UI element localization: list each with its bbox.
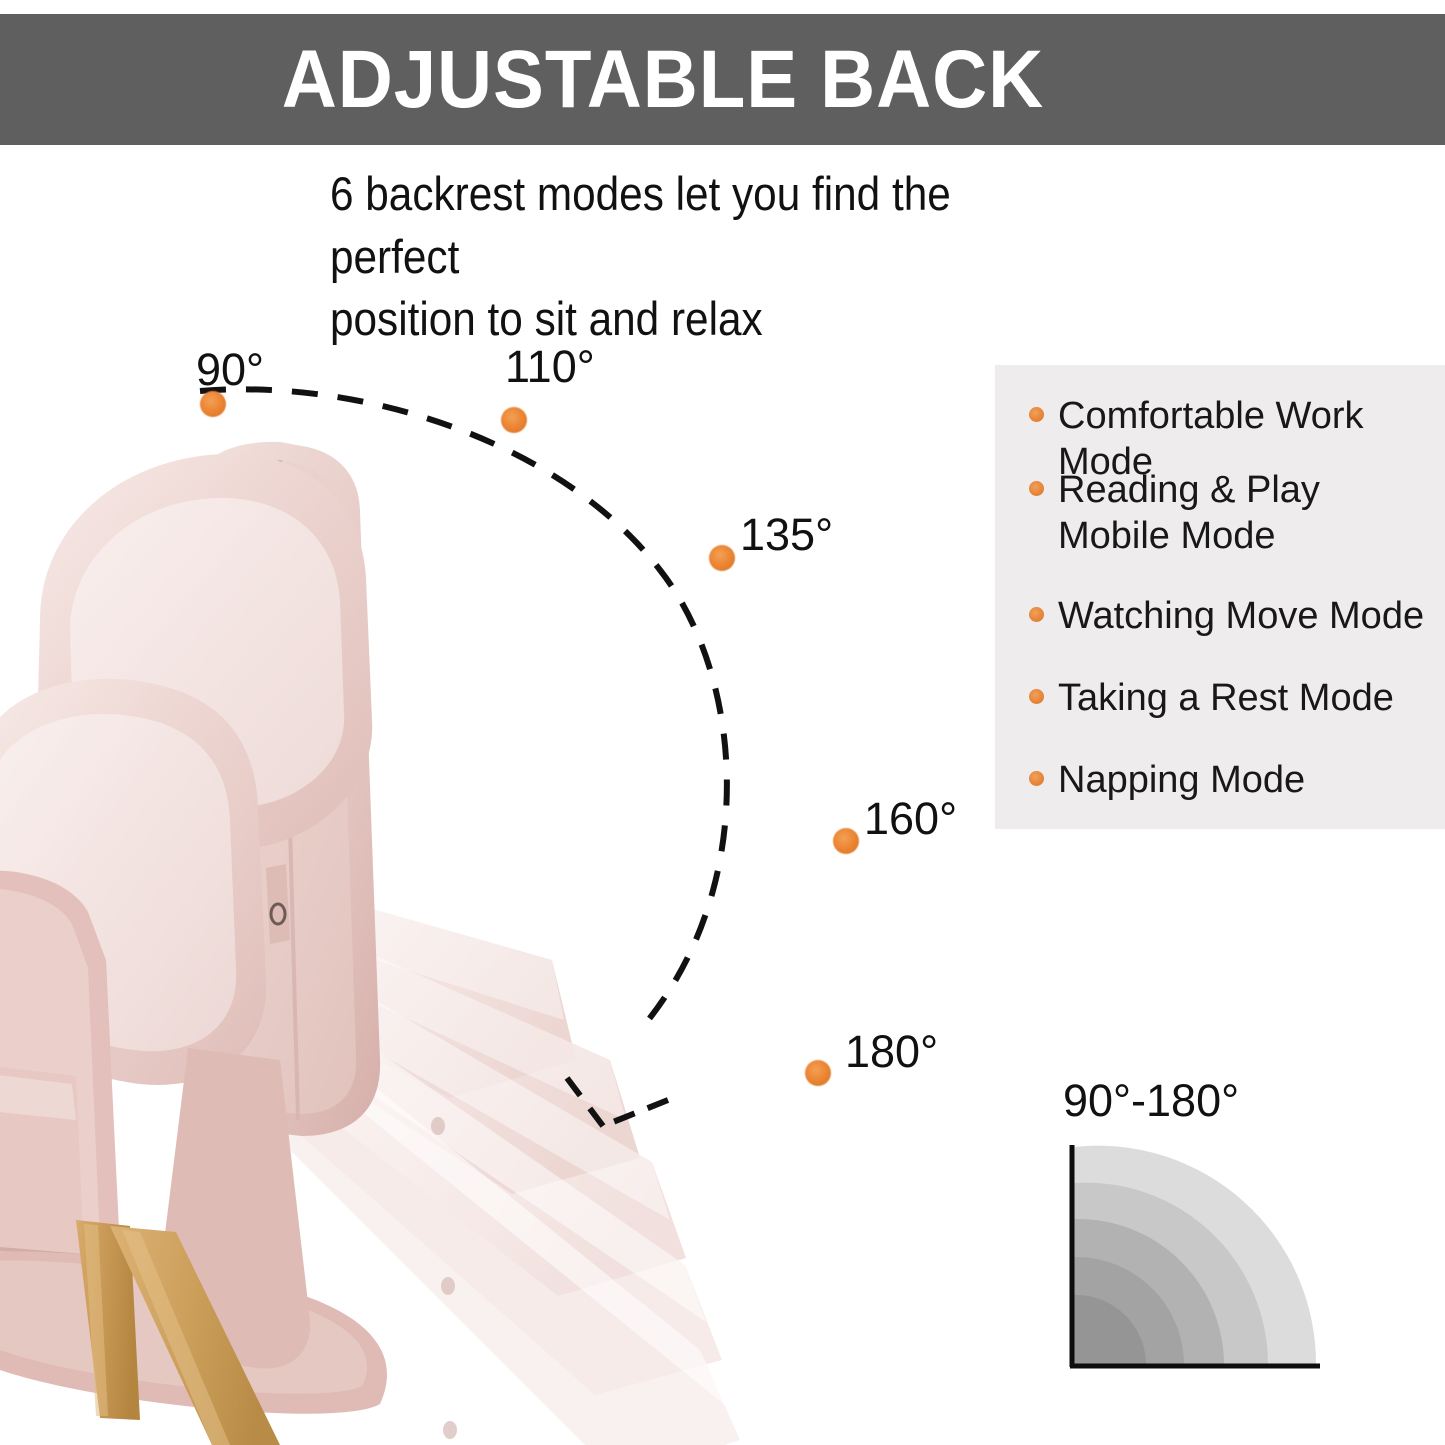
angle-range-label: 90°-180°: [1063, 1075, 1239, 1127]
bullet-icon: [1029, 407, 1044, 422]
angle-dot-110[interactable]: [501, 407, 527, 433]
modes-panel: Comfortable Work Mode Reading & Play Mob…: [995, 365, 1445, 829]
mode-label: Taking a Rest Mode: [1058, 675, 1394, 721]
angle-label-110: 110°: [505, 341, 595, 393]
angle-label-135: 135°: [740, 509, 833, 561]
bullet-icon: [1029, 607, 1044, 622]
mode-item-napping[interactable]: Napping Mode: [1029, 757, 1429, 803]
arrowhead-right: [603, 1100, 668, 1126]
angle-dot-160[interactable]: [833, 828, 859, 854]
page-title: ADJUSTABLE BACK: [281, 39, 1043, 121]
subtitle-line-1: 6 backrest modes let you find the perfec…: [330, 163, 1077, 288]
mode-label: Napping Mode: [1058, 757, 1305, 803]
angle-label-180: 180°: [845, 1026, 938, 1078]
arrowhead-left: [567, 1078, 603, 1126]
mode-label: Reading & Play Mobile Mode: [1058, 467, 1329, 560]
mode-item-watching-move[interactable]: Watching Move Mode: [1029, 593, 1429, 639]
mode-label: Watching Move Mode: [1058, 593, 1424, 639]
mode-item-taking-a-rest[interactable]: Taking a Rest Mode: [1029, 675, 1429, 721]
angle-label-160: 160°: [864, 793, 957, 845]
mode-item-reading-play-mobile[interactable]: Reading & Play Mobile Mode: [1029, 467, 1329, 560]
angle-label-90: 90°: [196, 344, 264, 396]
quarter-circle-bands: [1064, 1141, 1326, 1371]
infographic-canvas: ADJUSTABLE BACK 6 backrest modes let you…: [0, 0, 1445, 1445]
bullet-icon: [1029, 689, 1044, 704]
arc-path: [200, 389, 727, 1030]
angle-dot-135[interactable]: [709, 545, 735, 571]
header-bar: ADJUSTABLE BACK: [0, 14, 1445, 145]
bullet-icon: [1029, 771, 1044, 786]
angle-range-diagram: 90°-180°: [1055, 1075, 1345, 1380]
bullet-icon: [1029, 481, 1044, 496]
angle-dot-180[interactable]: [805, 1060, 831, 1086]
subtitle: 6 backrest modes let you find the perfec…: [330, 163, 1077, 351]
